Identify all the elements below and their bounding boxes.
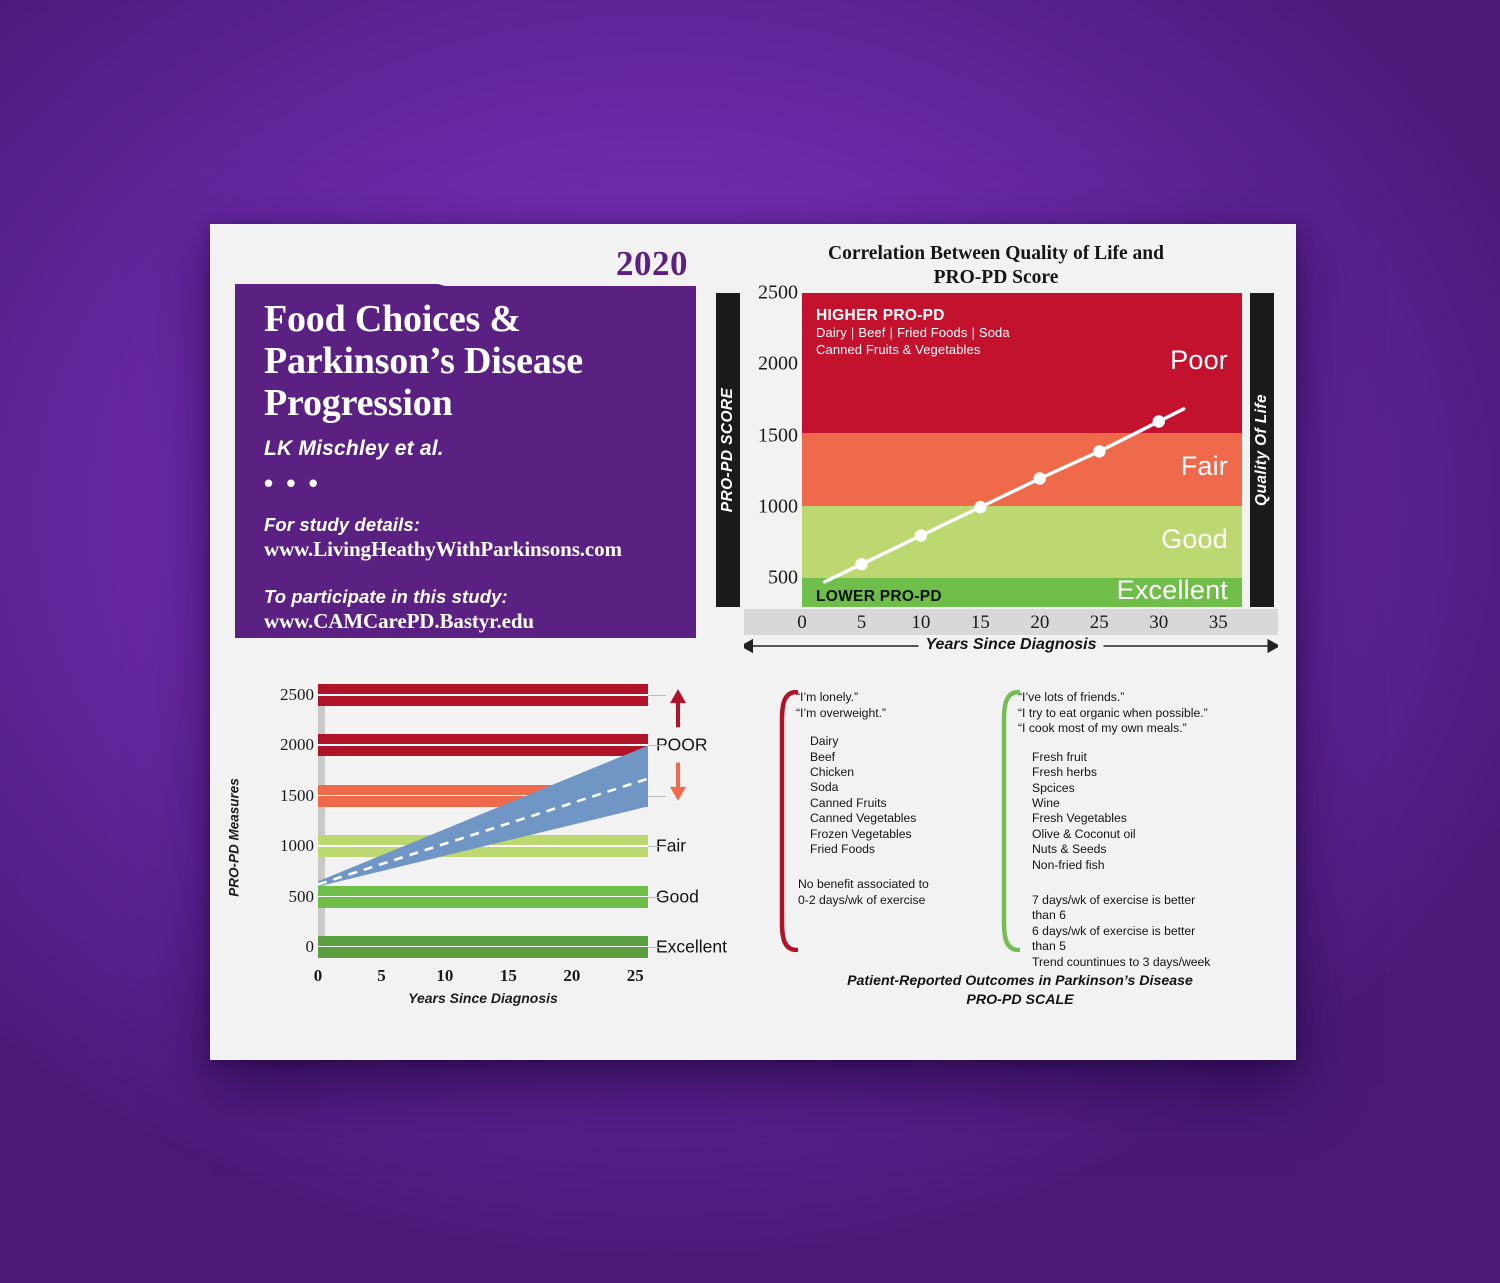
quote-line-1: “I’ve lots of friends.” — [1018, 690, 1220, 706]
arrow-down-icon — [670, 763, 686, 801]
cta-label: To participate in this study: — [264, 586, 672, 608]
food-item: Soda — [810, 780, 998, 795]
quote-line-2: “I try to eat organic when possible.” — [1018, 706, 1220, 722]
data-point-20 — [1034, 472, 1046, 484]
food-item: Olive & Coconut oil — [1032, 827, 1220, 842]
food-list-healthy: Fresh fruitFresh herbsSpcicesWineFresh V… — [1032, 750, 1220, 873]
leader-line-2000 — [648, 745, 666, 746]
y-tick-1500: 1500 — [758, 424, 798, 447]
food-item: Chicken — [810, 765, 998, 780]
chart-plot-area: PRO-PD SCORE 5001000150020002500 PoorFai… — [710, 293, 1282, 607]
fan-arrows — [656, 680, 736, 962]
food-item: Fresh Vegetables — [1032, 811, 1220, 826]
y-axis-bar-label: PRO-PD SCORE — [719, 388, 737, 513]
trend-line-svg — [802, 293, 1242, 607]
fan-y-tick-1500: 1500 — [280, 786, 314, 806]
chart-title-line1: Correlation Between Quality of Life and — [710, 242, 1282, 266]
quotes-caption: Patient-Reported Outcomes in Parkinson’s… — [770, 972, 1270, 1010]
fan-y-ticks: 05001000150020002500 — [246, 680, 314, 962]
note-line-3: Trend countinues to 3 days/week — [1032, 955, 1220, 970]
progression-fan-chart: PRO-PD Measures 05001000150020002500 POO… — [232, 680, 732, 1040]
x-axis-title: Years Since Diagnosis — [918, 636, 1103, 654]
poster-sheet: 2020 Food Choices & Parkinson’s Disease … — [210, 224, 1296, 1060]
quote-panel-healthy: “I’ve lots of friends.”“I try to eat org… — [992, 690, 1220, 952]
leader-line-1500 — [648, 796, 666, 797]
quotes-caption-line1: Patient-Reported Outcomes in Parkinson’s… — [770, 972, 1270, 991]
note-line-1: 7 days/wk of exercise is better than 6 — [1032, 893, 1220, 924]
food-item: Wine — [1032, 796, 1220, 811]
quote-line-1: “I’m lonely.” — [796, 690, 998, 706]
food-item: Non-fried fish — [1032, 858, 1220, 873]
x-axis-strip: 05101520253035 — [744, 609, 1278, 635]
leader-line-2500 — [648, 695, 666, 696]
title-card-content: Food Choices & Parkinson’s Disease Progr… — [235, 250, 696, 638]
ellipsis-decoration: • • • — [264, 476, 672, 490]
y-tick-2500: 2500 — [758, 282, 798, 305]
quote-panel-unhealthy: “I’m lonely.”“I’m overweight.” DairyBeef… — [770, 690, 998, 952]
food-item: Canned Vegetables — [810, 811, 998, 826]
arrow-up-icon — [670, 689, 686, 727]
x-tick-25: 25 — [1090, 612, 1109, 634]
food-item: Spcices — [1032, 781, 1220, 796]
fan-x-axis-label: Years Since Diagnosis — [318, 990, 648, 1006]
data-point-5 — [855, 558, 867, 570]
study-details-link[interactable]: www.LivingHeathyWithParkinsons.com — [264, 537, 672, 562]
fan-y-tick-2000: 2000 — [280, 735, 314, 755]
y-axis-ticks: 5001000150020002500 — [744, 293, 798, 607]
data-point-30 — [1153, 415, 1165, 427]
data-point-25 — [1093, 445, 1105, 457]
quote-list-unhealthy: “I’m lonely.”“I’m overweight.” — [796, 690, 998, 721]
bracket-right-icon — [1000, 690, 1020, 952]
fan-y-axis-label: PRO-PD Measures — [227, 778, 242, 897]
x-tick-10: 10 — [911, 612, 930, 634]
x-tick-5: 5 — [857, 612, 867, 634]
participate-link[interactable]: www.CAMCarePD.Bastyr.edu — [264, 609, 672, 634]
fan-y-tick-500: 500 — [289, 887, 315, 907]
quality-of-life-label: Quality Of Life — [1253, 394, 1271, 506]
x-tick-35: 35 — [1209, 612, 1228, 634]
fan-y-tick-1000: 1000 — [280, 836, 314, 856]
chart-bands-and-line: PoorFairGoodExcellentHIGHER PRO-PDDairy|… — [802, 293, 1242, 607]
y-axis-bar: PRO-PD SCORE — [716, 293, 740, 607]
fan-x-tick-0: 0 — [314, 966, 323, 986]
quote-list-healthy: “I’ve lots of friends.”“I try to eat org… — [1018, 690, 1220, 737]
x-tick-0: 0 — [797, 612, 807, 634]
leader-line-500 — [648, 897, 666, 898]
cta-label: For study details: — [264, 514, 672, 536]
title-card: 2020 Food Choices & Parkinson’s Disease … — [235, 250, 696, 638]
cta-study-details: For study details: www.LivingHeathyWithP… — [264, 514, 672, 562]
food-item: Fresh herbs — [1032, 765, 1220, 780]
x-tick-30: 30 — [1149, 612, 1168, 634]
quote-line-2: “I’m overweight.” — [796, 706, 998, 722]
fan-x-tick-20: 20 — [563, 966, 580, 986]
food-item: Dairy — [810, 734, 998, 749]
food-list-unhealthy: DairyBeefChickenSodaCanned FruitsCanned … — [810, 734, 998, 857]
x-tick-15: 15 — [971, 612, 990, 634]
trend-line — [825, 409, 1184, 582]
fan-plot-area — [318, 680, 648, 962]
note-line-2: 0-2 days/wk of exercise — [798, 893, 998, 908]
fan-y-tick-2500: 2500 — [280, 685, 314, 705]
exercise-note-unhealthy: No benefit associated to0-2 days/wk of e… — [798, 877, 998, 908]
fan-band-svg — [318, 680, 648, 962]
data-point-10 — [915, 529, 927, 541]
food-item: Fresh fruit — [1032, 750, 1220, 765]
authors-line: LK Mischley et al. — [264, 437, 672, 461]
quality-of-life-axis-bar: Quality Of Life — [1250, 293, 1274, 607]
food-item: Beef — [810, 750, 998, 765]
fan-x-tick-5: 5 — [377, 966, 386, 986]
note-line-2: 6 days/wk of exercise is better than 5 — [1032, 924, 1220, 955]
quote-panels: “I’m lonely.”“I’m overweight.” DairyBeef… — [770, 690, 1270, 1030]
food-item: Frozen Vegetables — [810, 827, 998, 842]
fan-right-labels: POORFairGoodExcellent — [656, 680, 740, 962]
fan-x-tick-25: 25 — [627, 966, 644, 986]
y-tick-1000: 1000 — [758, 496, 798, 519]
cta-participate: To participate in this study: www.CAMCar… — [264, 586, 672, 634]
bracket-left-icon — [778, 690, 798, 952]
x-axis-caption-row: Years Since Diagnosis — [744, 636, 1278, 658]
fan-x-tick-15: 15 — [500, 966, 517, 986]
food-item: Canned Fruits — [810, 796, 998, 811]
confidence-band — [318, 746, 648, 887]
data-point-15 — [974, 501, 986, 513]
leader-line-1000 — [648, 846, 666, 847]
fan-y-tick-0: 0 — [306, 937, 315, 957]
fan-x-tick-10: 10 — [436, 966, 453, 986]
x-tick-20: 20 — [1030, 612, 1049, 634]
note-line-1: No benefit associated to — [798, 877, 998, 892]
exercise-note-healthy: 7 days/wk of exercise is better than 66 … — [1032, 893, 1220, 970]
correlation-chart: Correlation Between Quality of Life and … — [710, 236, 1282, 656]
food-item: Nuts & Seeds — [1032, 842, 1220, 857]
y-tick-2000: 2000 — [758, 353, 798, 376]
food-item: Fried Foods — [810, 842, 998, 857]
quote-line-3: “I cook most of my own meals.” — [1018, 721, 1220, 737]
quotes-caption-line2: PRO-PD SCALE — [770, 991, 1270, 1010]
y-tick-500: 500 — [768, 567, 798, 590]
page-title: Food Choices & Parkinson’s Disease Progr… — [264, 298, 672, 424]
leader-line-0 — [648, 947, 666, 948]
fan-x-ticks: 0510152025 — [318, 966, 648, 988]
